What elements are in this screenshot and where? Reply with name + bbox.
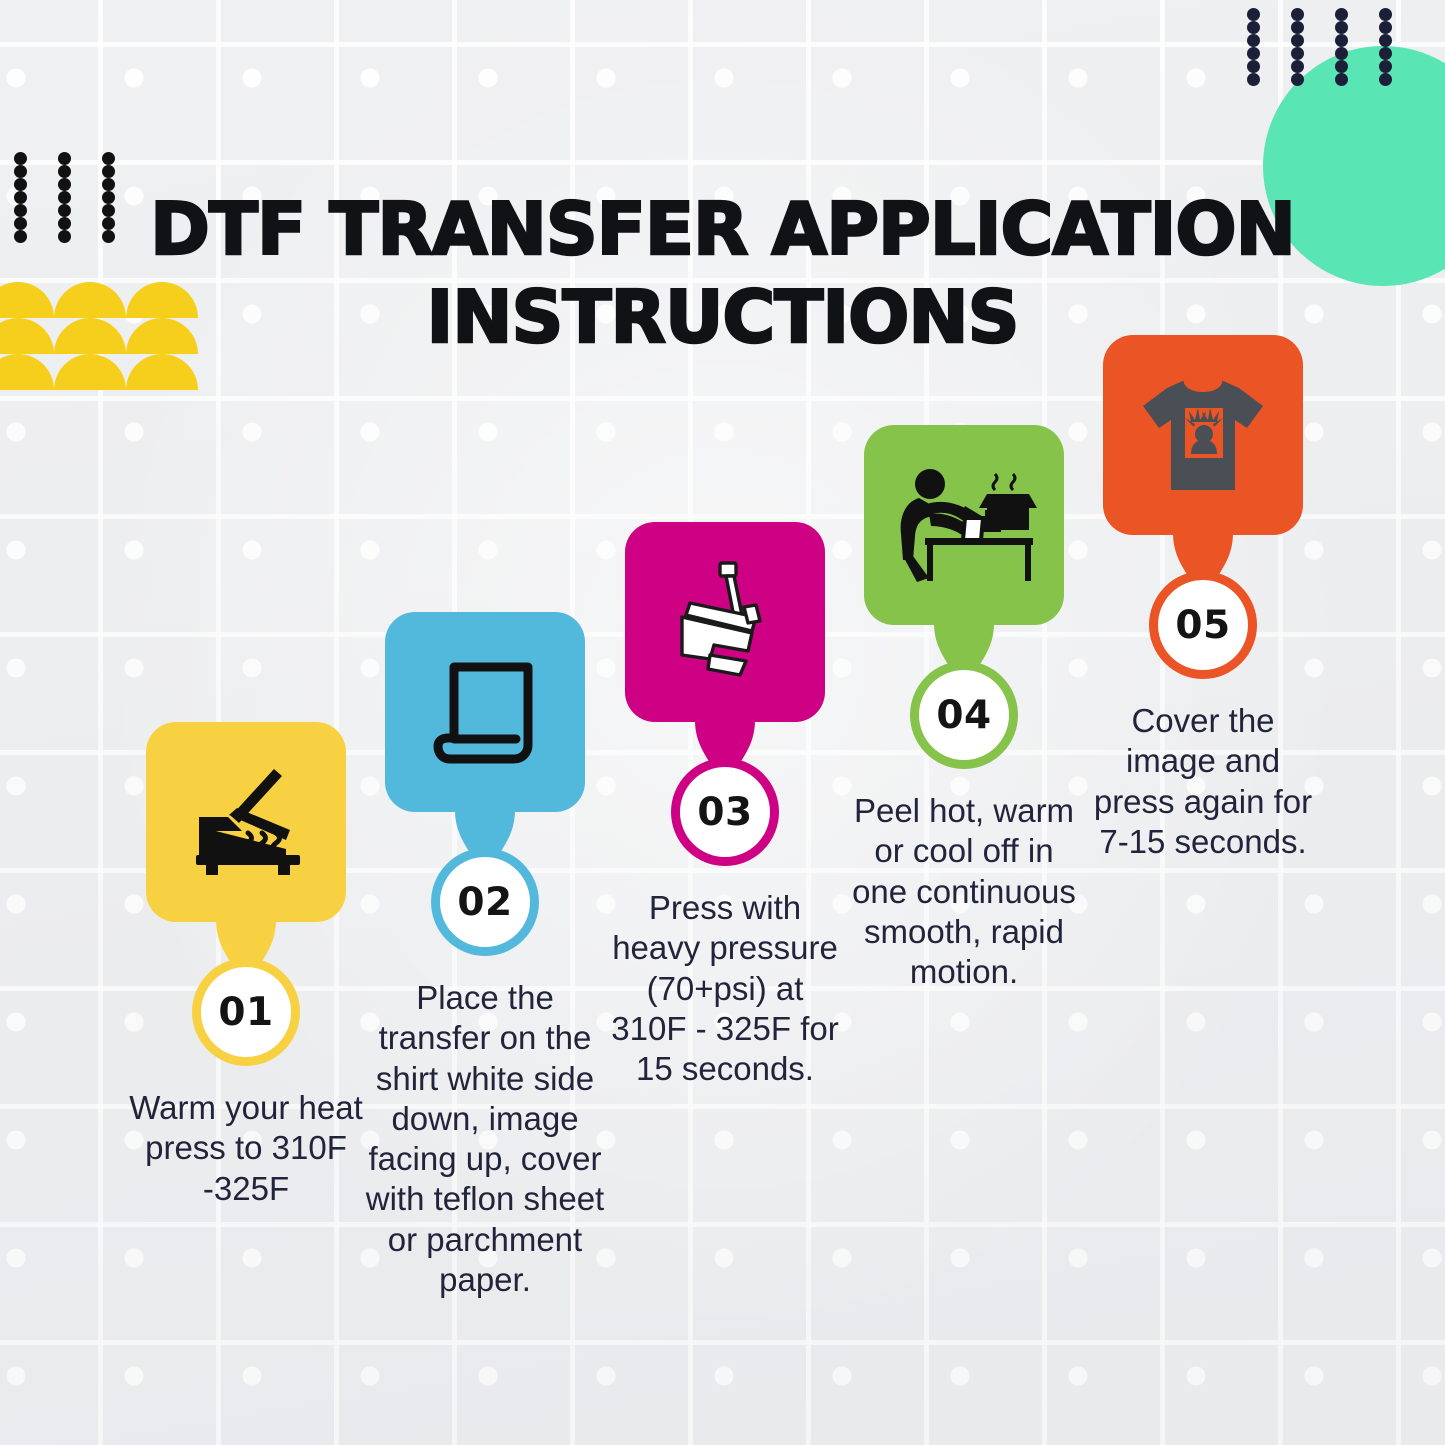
- step-03-number-badge[interactable]: 03: [671, 758, 779, 866]
- step-02-number-badge[interactable]: 02: [431, 848, 539, 956]
- step-04-number-badge[interactable]: 04: [910, 661, 1018, 769]
- steps-container: 01 Warm your heat press to 310F -325F 02…: [0, 0, 1445, 1445]
- step-01-icon-card[interactable]: [146, 722, 346, 922]
- step-item-04: 04 Peel hot, warm or cool off in one con…: [836, 425, 1092, 992]
- step-02-number: 02: [457, 880, 512, 925]
- step-item-05: 05 Cover the image and press again for 7…: [1075, 335, 1331, 862]
- heat-press-machine-icon: [660, 559, 790, 685]
- step-01-number: 01: [218, 990, 273, 1035]
- transfer-sheet-icon: [426, 653, 544, 771]
- step-05-number-badge[interactable]: 05: [1149, 571, 1257, 679]
- step-04-caption: Peel hot, warm or cool off in one contin…: [849, 791, 1079, 992]
- step-04-number: 04: [936, 693, 991, 738]
- step-05-number: 05: [1175, 603, 1230, 648]
- peel-transfer-worker-icon: [889, 460, 1039, 590]
- step-item-03: 03 Press with heavy pressure (70+psi) at…: [597, 522, 853, 1089]
- step-04-icon-card[interactable]: [864, 425, 1064, 625]
- step-item-01: 01 Warm your heat press to 310F -325F: [118, 722, 374, 1209]
- step-05-icon-card[interactable]: [1103, 335, 1303, 535]
- step-05-caption: Cover the image and press again for 7-15…: [1088, 701, 1318, 862]
- step-01-number-badge[interactable]: 01: [192, 958, 300, 1066]
- step-02-icon-card[interactable]: [385, 612, 585, 812]
- step-03-icon-card[interactable]: [625, 522, 825, 722]
- step-03-number: 03: [697, 790, 752, 835]
- step-03-caption: Press with heavy pressure (70+psi) at 31…: [610, 888, 840, 1089]
- heat-press-icon: [182, 767, 310, 877]
- step-item-02: 02 Place the transfer on the shirt white…: [357, 612, 613, 1300]
- step-01-caption: Warm your heat press to 310F -325F: [125, 1088, 367, 1209]
- printed-tshirt-icon: [1137, 372, 1269, 498]
- step-02-caption: Place the transfer on the shirt white si…: [364, 978, 606, 1300]
